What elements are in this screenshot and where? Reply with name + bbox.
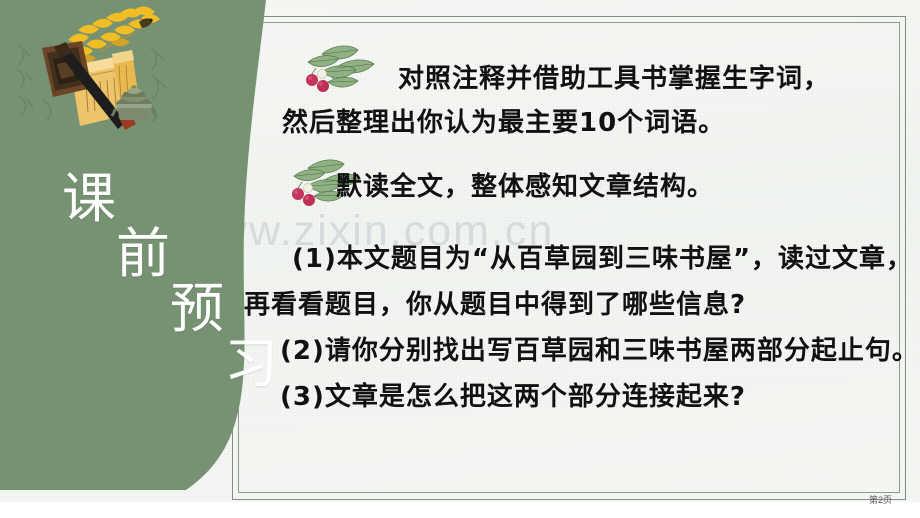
title-char-2: 前 <box>116 227 170 281</box>
task1-line1: 对照注释并借助工具书掌握生字词， <box>398 58 830 95</box>
question1-line1: (1)本文题目为“从百草园到三味书屋”，读过文章， <box>292 238 913 275</box>
slide-body-text: 对照注释并借助工具书掌握生字词， 然后整理出你认为最主要10个词语。 默读全文，… <box>252 34 892 464</box>
question3-line1: (3)文章是怎么把这两个部分连接起来? <box>280 376 746 413</box>
task2-line1: 默读全文，整体感知文章结构。 <box>336 166 714 203</box>
page-number: 第2页 <box>869 493 892 506</box>
question1-line2: 再看看题目，你从题目中得到了哪些信息? <box>244 284 746 321</box>
task1-line2: 然后整理出你认为最主要10个词语。 <box>282 102 725 139</box>
title-char-1: 课 <box>62 172 116 226</box>
title-char-3: 预 <box>170 282 224 336</box>
presentation-slide: www.zixin.com.cn <box>0 0 920 518</box>
question2-line1: (2)请你分别找出写百草园和三味书屋两部分起止句。 <box>280 330 919 367</box>
slide-bottom-margin <box>0 502 920 518</box>
